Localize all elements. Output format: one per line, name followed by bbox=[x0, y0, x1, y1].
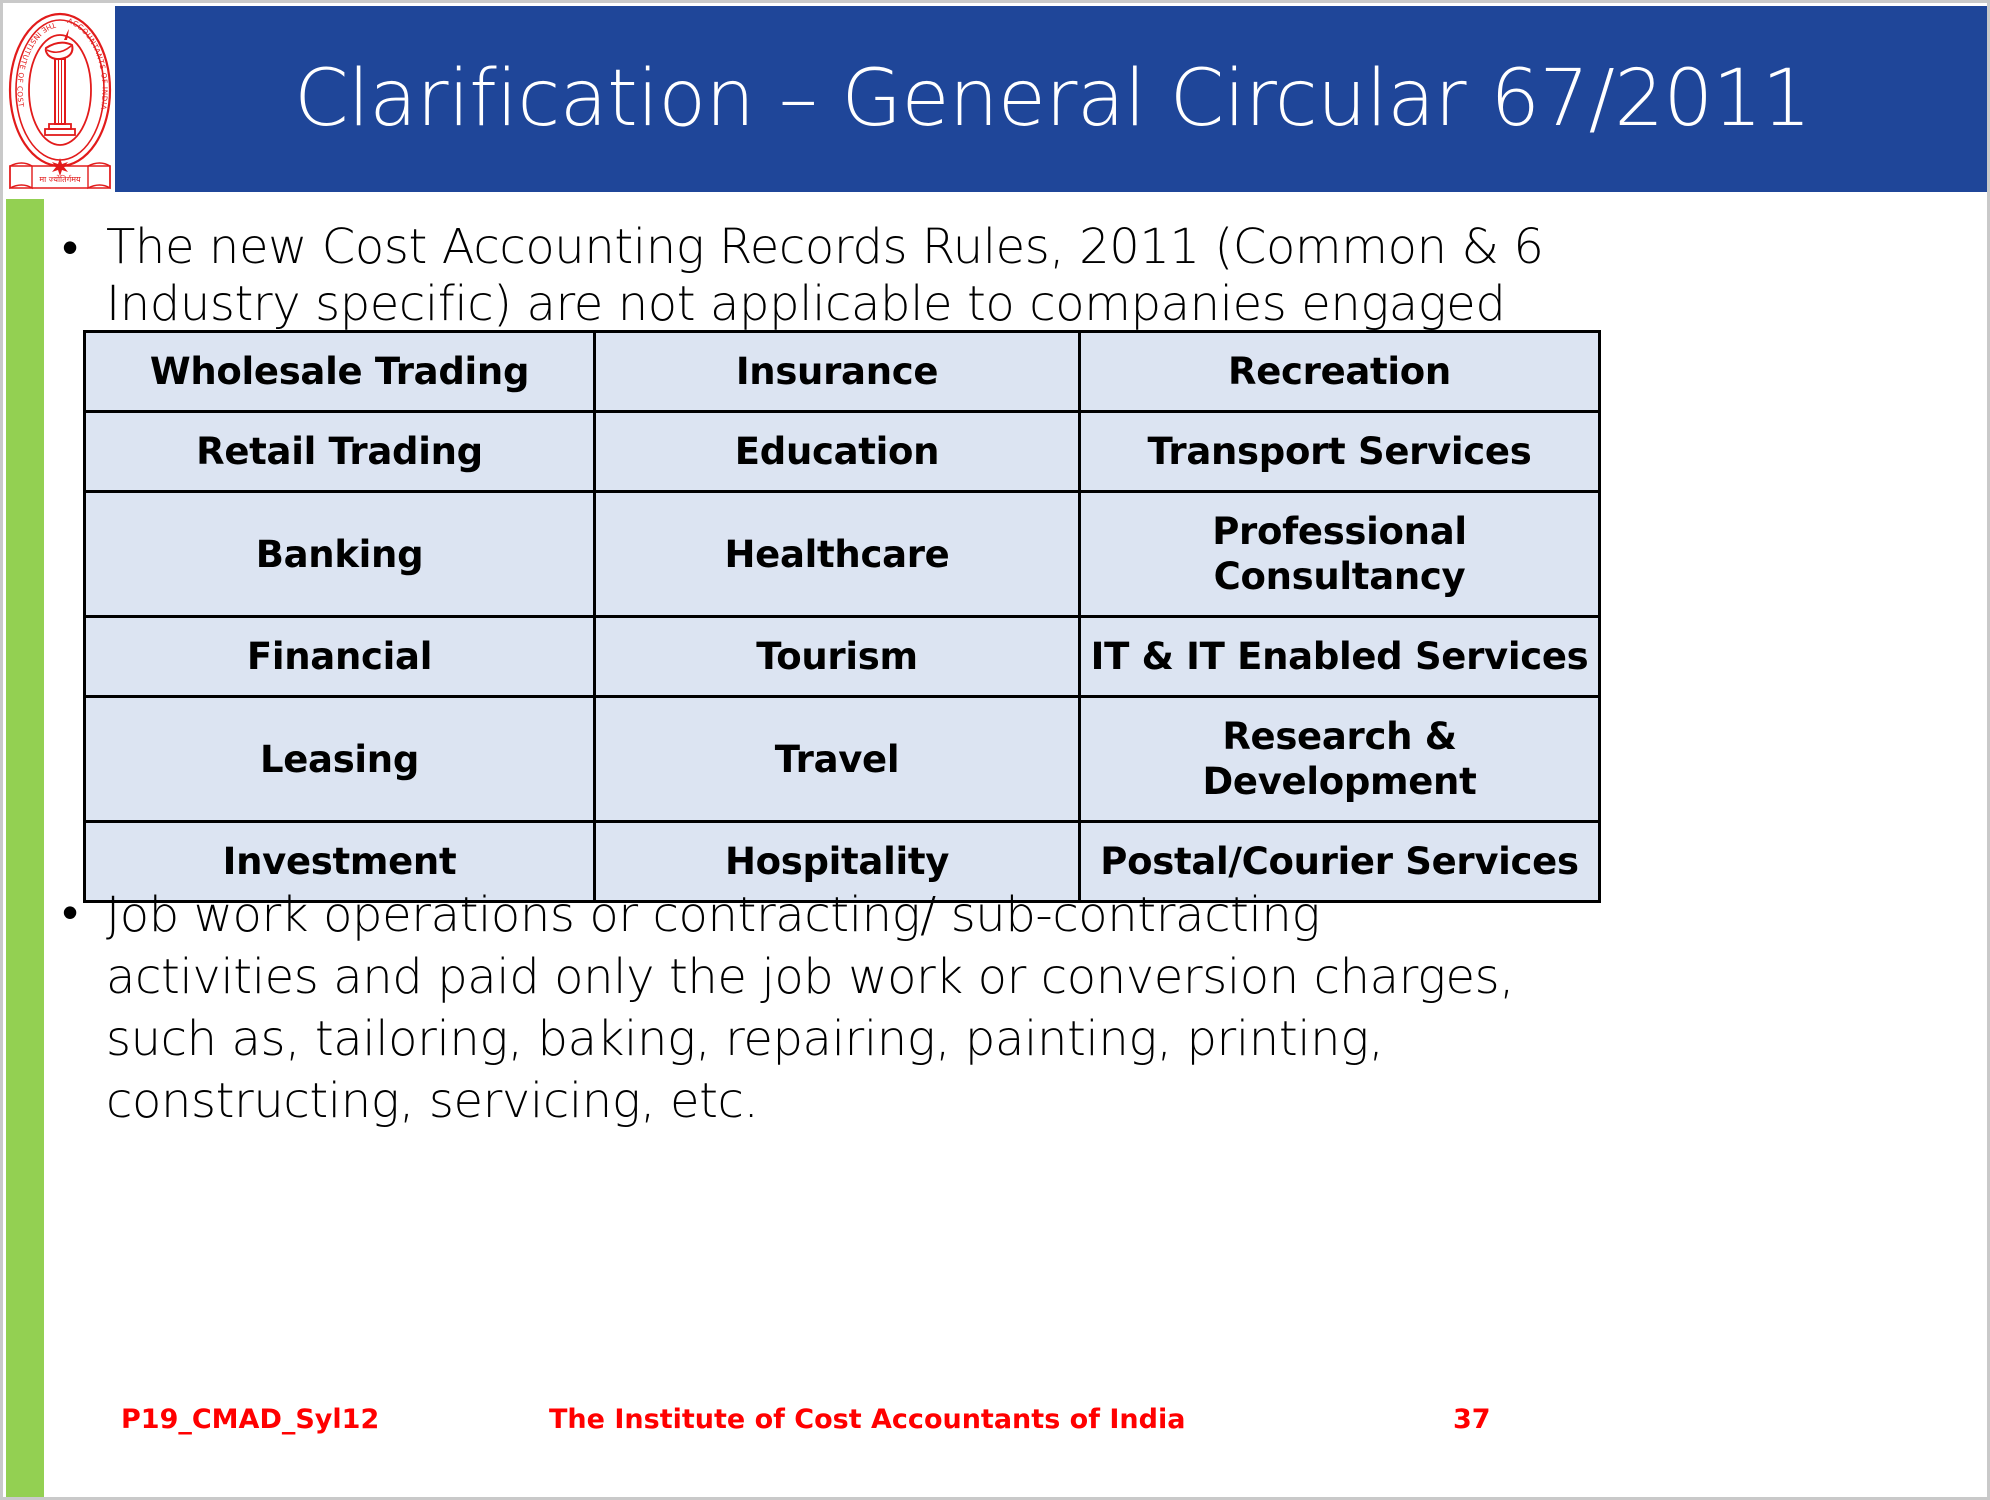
bullet-marker-icon: • bbox=[44, 219, 106, 276]
bullet-item-second: • Job work operations or contracting/ su… bbox=[44, 884, 1534, 1132]
table-cell-professional-consultancy: Professional Consultancy bbox=[1080, 492, 1600, 617]
table-cell-insurance: Insurance bbox=[595, 332, 1080, 412]
page-title: Clarification – General Circular 67/2011 bbox=[115, 6, 1990, 192]
table-row: Leasing Travel Research & Development bbox=[85, 697, 1600, 822]
left-accent-bar bbox=[6, 199, 44, 1500]
table-cell-tourism: Tourism bbox=[595, 617, 1080, 697]
table-cell-retail-trading: Retail Trading bbox=[85, 412, 595, 492]
table-cell-recreation: Recreation bbox=[1080, 332, 1600, 412]
footer-institute-name: The Institute of Cost Accountants of Ind… bbox=[549, 1404, 1185, 1435]
exempted-industries-table: Wholesale Trading Insurance Recreation R… bbox=[83, 330, 1601, 903]
table-cell-education: Education bbox=[595, 412, 1080, 492]
svg-text:THE INSTITUTE OF COST: THE INSTITUTE OF COST bbox=[15, 20, 57, 108]
footer-course-code: P19_CMAD_Syl12 bbox=[121, 1404, 379, 1435]
table-row: Financial Tourism IT & IT Enabled Servic… bbox=[85, 617, 1600, 697]
table-body: Wholesale Trading Insurance Recreation R… bbox=[85, 332, 1600, 902]
svg-text:मा ज्योतिर्गमय: मा ज्योतिर्गमय bbox=[39, 174, 81, 184]
table-row: Wholesale Trading Insurance Recreation bbox=[85, 332, 1600, 412]
table-cell-financial: Financial bbox=[85, 617, 595, 697]
table-cell-banking: Banking bbox=[85, 492, 595, 617]
slide-footer: P19_CMAD_Syl12 The Institute of Cost Acc… bbox=[44, 1395, 1990, 1443]
table-cell-travel: Travel bbox=[595, 697, 1080, 822]
bullet-marker-icon: • bbox=[44, 884, 106, 941]
presentation-slide: ACCOUNTANTS OF INDIA THE INSTITUTE OF CO… bbox=[0, 0, 1990, 1500]
table-cell-it-enabled-services: IT & IT Enabled Services bbox=[1080, 617, 1600, 697]
table-cell-transport-services: Transport Services bbox=[1080, 412, 1600, 492]
table-cell-wholesale-trading: Wholesale Trading bbox=[85, 332, 595, 412]
table-cell-leasing: Leasing bbox=[85, 697, 595, 822]
institute-logo: ACCOUNTANTS OF INDIA THE INSTITUTE OF CO… bbox=[6, 6, 114, 194]
table-cell-research-development: Research & Development bbox=[1080, 697, 1600, 822]
table-cell-healthcare: Healthcare bbox=[595, 492, 1080, 617]
table-row: Banking Healthcare Professional Consulta… bbox=[85, 492, 1600, 617]
bullet-second-text: Job work operations or contracting/ sub-… bbox=[106, 884, 1534, 1132]
slide-content: • The new Cost Accounting Records Rules,… bbox=[44, 199, 1990, 1500]
footer-page-number: 37 bbox=[1453, 1404, 1491, 1435]
table-row: Retail Trading Education Transport Servi… bbox=[85, 412, 1600, 492]
icai-emblem-icon: ACCOUNTANTS OF INDIA THE INSTITUTE OF CO… bbox=[6, 6, 114, 194]
